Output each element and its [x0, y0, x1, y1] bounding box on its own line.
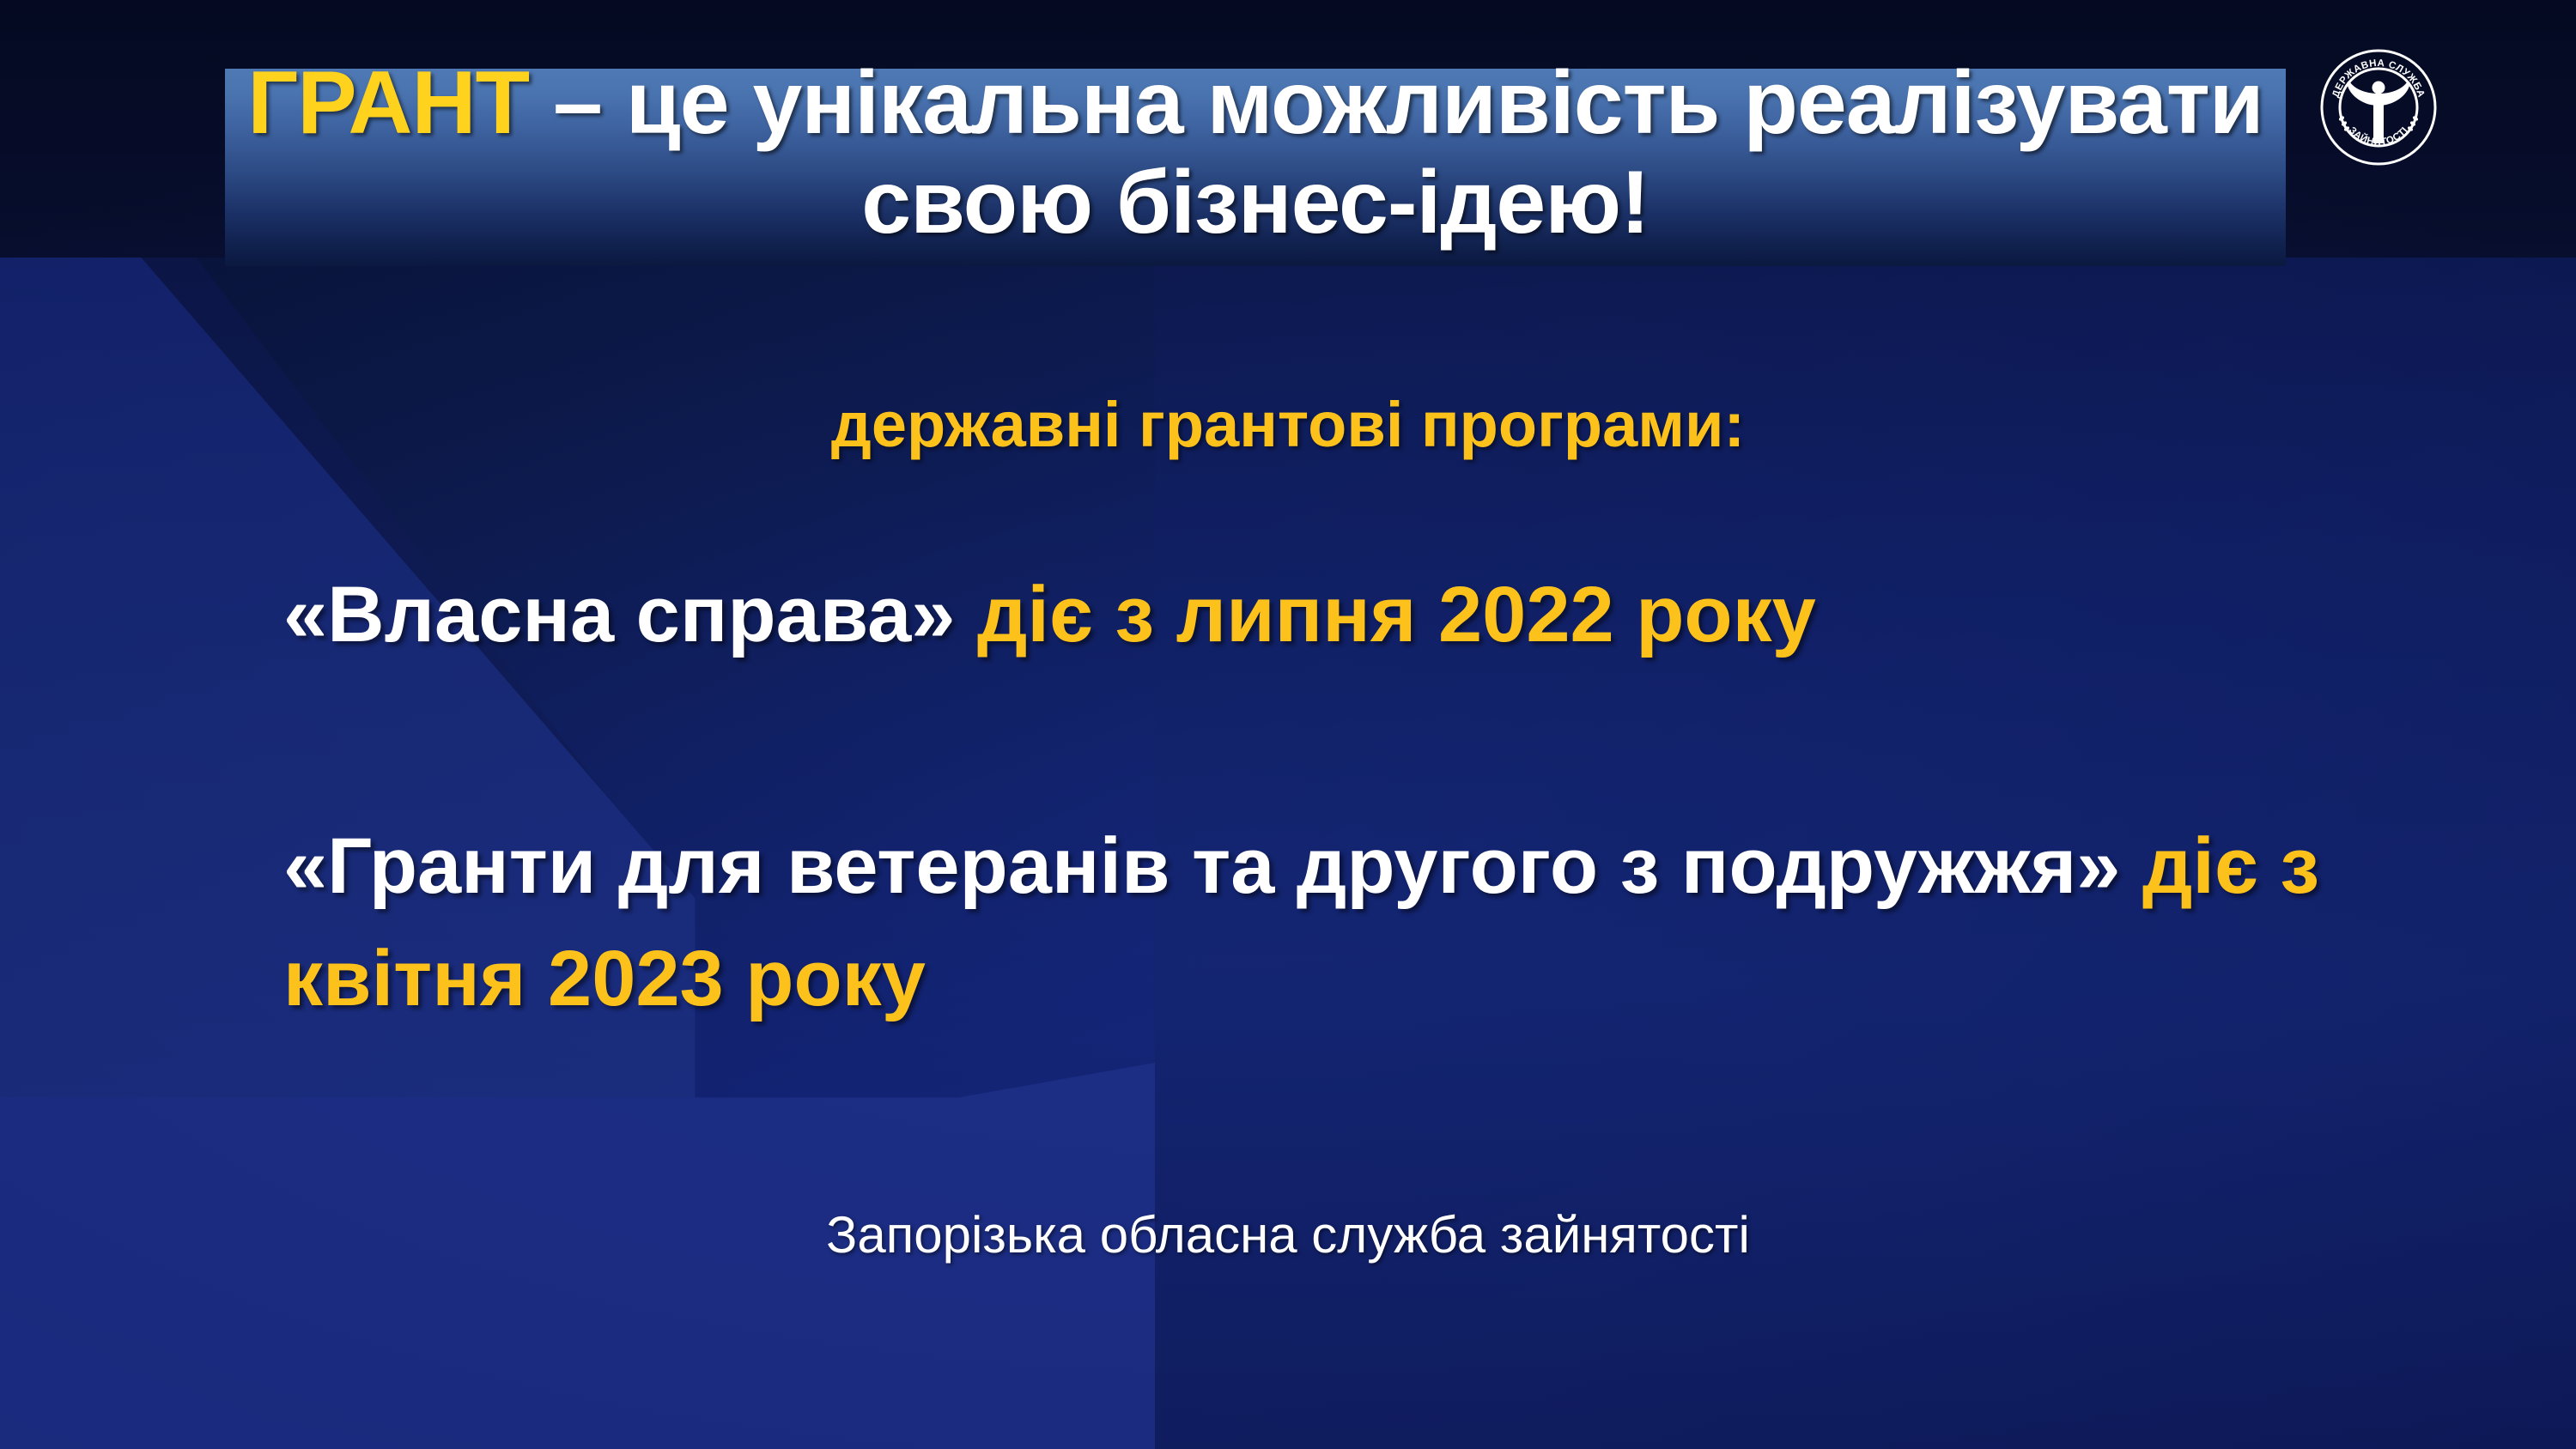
title-line2: свою бізнес-ідею! — [861, 153, 1649, 252]
program-1-name: «Власна справа» — [283, 571, 955, 658]
page-title: ГРАНТ – це унікальна можливість реалізув… — [225, 53, 2286, 253]
employment-service-emblem-icon: ДЕРЖАВНА СЛУЖБА ЗАЙНЯТОСТІ — [2318, 47, 2439, 167]
program-entry-1: «Власна справа» діє з липня 2022 року — [283, 570, 1816, 660]
title-keyword: ГРАНТ — [247, 53, 529, 153]
footer-organization: Запорізька обласна служба зайнятості — [0, 1205, 2576, 1264]
slide-canvas: ГРАНТ – це унікальна можливість реалізув… — [0, 0, 2576, 1449]
program-entry-2: «Гранти для ветеранів та другого з подру… — [283, 810, 2430, 1034]
program-2-name: «Гранти для ветеранів та другого з подру… — [283, 822, 2120, 910]
program-1-validity: діє з липня 2022 року — [977, 571, 1816, 658]
title-line1-rest: – це унікальна можливість реалізувати — [529, 53, 2263, 153]
subheading: державні грантові програми: — [0, 388, 2576, 461]
